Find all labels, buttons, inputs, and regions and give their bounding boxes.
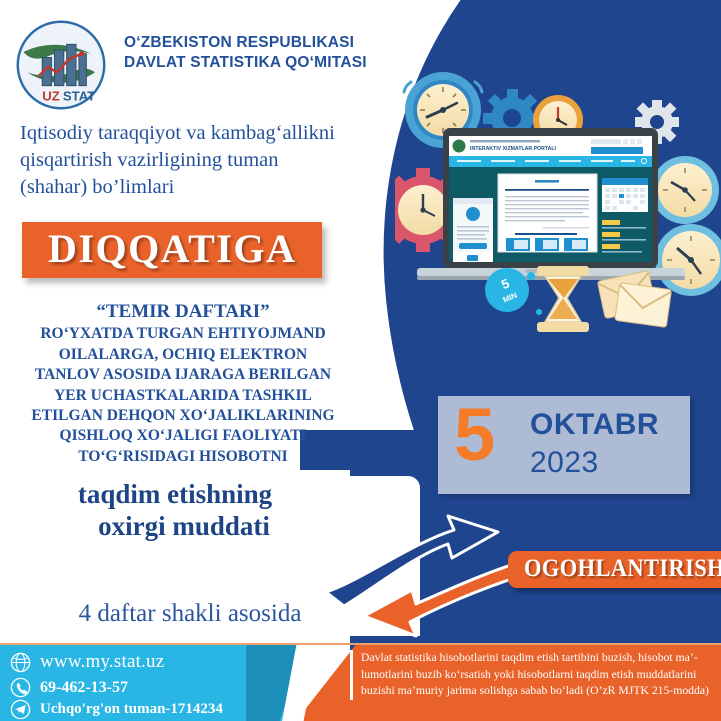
laptop-illustration: INTERAKTIV XIZMATLAR PORTALI — [417, 128, 685, 280]
poster-canvas: INTERAKTIV XIZMATLAR PORTALI — [0, 0, 721, 721]
report-line-3: YER UCHASTKALARIDA TASHKIL — [8, 386, 358, 406]
phone-icon — [10, 677, 31, 698]
org-title-line2: DAVLAT STATISTIKA QO‘MITASI — [124, 53, 384, 73]
globe-icon — [10, 652, 31, 673]
report-description: “TEMIR DAFTARI” RO‘YXATDA TURGAN EHTIYOJ… — [8, 300, 358, 467]
footer-phone-row[interactable]: 69-462-13-57 — [10, 677, 128, 698]
report-line-6: TO‘G‘RISIDAGI HISOBOTNI — [8, 447, 358, 467]
deadline-line2: oxirgi muddati — [10, 510, 340, 542]
deadline-line1: taqdim etishning — [78, 479, 272, 509]
date-month: OKTABR — [530, 410, 659, 440]
report-line-1: OILALARGA, OCHIQ ELEKTRON — [8, 345, 358, 365]
addressee-line3: (shahar) bo’limlari — [20, 174, 370, 201]
report-line-0: RO‘YXATDA TURGAN EHTIYOJMAND — [8, 324, 358, 344]
report-line-5: QISHLOQ XO‘JALIGI FAOLIYATI — [8, 426, 358, 446]
clock-icon-right-middle — [651, 156, 719, 224]
svg-text:INTERAKTIV XIZMATLAR PORTALI: INTERAKTIV XIZMATLAR PORTALI — [470, 146, 557, 152]
hourglass-icon — [537, 266, 589, 332]
uzstat-logo: UZ STAT — [14, 18, 108, 112]
report-line-2: TANLOV ASOSIDA IJARAGA BERILGAN — [8, 365, 358, 385]
telegram-icon — [10, 699, 31, 720]
five-min-badge: 5 MIN — [485, 268, 542, 315]
attention-banner-box: DIQQATIGA — [22, 222, 322, 278]
clock-icon-right-lower — [655, 224, 721, 296]
warning-pill-label: OGOHLANTIRISH — [524, 556, 721, 581]
footer-telegram-row[interactable]: Uchqo'rg'on tuman-1714234 — [10, 699, 223, 720]
footer-phone: 69-462-13-57 — [40, 679, 128, 697]
addressee-paragraph: Iqtisodiy taraqqiyot va kambag‘allikni q… — [20, 120, 370, 201]
logo-text-stat: STAT — [63, 89, 95, 104]
report-line-4: ETILGAN DEHQON XO‘JALIKLARINING — [8, 406, 358, 426]
footer-website-row[interactable]: www.my.stat.uz — [10, 651, 164, 673]
addressee-line2: qisqartirish vazirligining tuman — [20, 147, 370, 174]
warning-pill: OGOHLANTIRISH — [508, 551, 721, 588]
legal-line3: buzishi ma’muriy jarima solishga sabab b… — [361, 683, 721, 700]
logo-text-uz: UZ — [42, 89, 60, 104]
illustration-group: INTERAKTIV XIZMATLAR PORTALI — [395, 70, 721, 340]
deadline-heading: taqdim etishning oxirgi muddati — [10, 478, 340, 543]
form-note: 4 daftar shakli asosida — [20, 600, 360, 628]
footer-telegram: Uchqo'rg'on tuman-1714234 — [40, 701, 223, 718]
legal-line2: lumotlarini buzib ko‘rsatish yoki hisobo… — [361, 667, 721, 684]
organization-title: O‘ZBEKISTON RESPUBLIKASI DAVLAT STATISTI… — [124, 33, 384, 73]
date-day: 5 — [454, 398, 495, 472]
footer: www.my.stat.uz 69-462-13-57 Uchqo'rg'on … — [0, 645, 721, 721]
deadline-date-card: 5 OKTABR 2023 — [438, 396, 690, 494]
report-title: “TEMIR DAFTARI” — [8, 300, 358, 323]
addressee-line1: Iqtisodiy taraqqiyot va kambag‘allikni — [20, 120, 370, 147]
attention-banner: DIQQATIGA — [22, 222, 322, 278]
attention-banner-label: DIQQATIGA — [48, 229, 296, 269]
footer-legal-notice: Davlat statistika hisobotlarini taqdim e… — [350, 650, 721, 700]
org-title-line1: O‘ZBEKISTON RESPUBLIKASI — [124, 33, 384, 53]
footer-website: www.my.stat.uz — [40, 651, 164, 673]
date-year: 2023 — [530, 448, 599, 478]
legal-line1: Davlat statistika hisobotlarini taqdim e… — [361, 650, 721, 667]
